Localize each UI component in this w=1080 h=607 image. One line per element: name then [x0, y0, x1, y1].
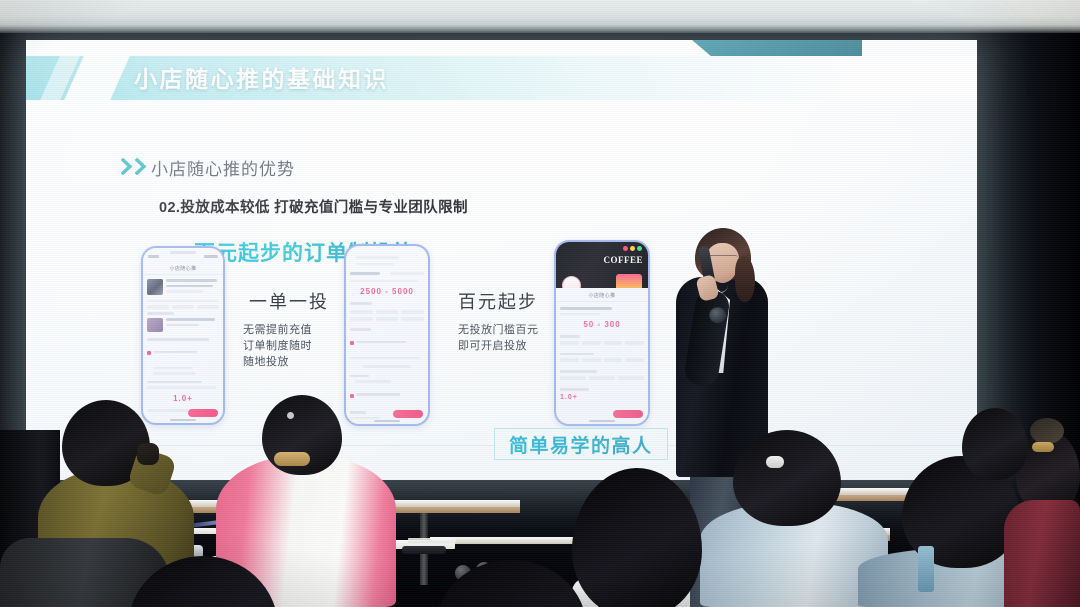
phone-home-bar [374, 420, 400, 422]
phone-nav-title: 小店随心推 [588, 292, 615, 299]
phone-screen-body: 50 - 300 1.0+ [556, 303, 648, 424]
attendee-head [733, 430, 841, 526]
phone-amount: 50 - 300 [560, 320, 644, 329]
thumbnail [147, 318, 163, 332]
phone-home-bar [170, 419, 196, 421]
attendee-hand [137, 443, 159, 465]
notebook-paper [408, 538, 456, 543]
video-badge-left [562, 276, 581, 288]
phone-mockup-3: COFFEE 小店随心推 50 - 300 [554, 240, 650, 426]
video-label: COFFEE [603, 255, 643, 265]
phone-screen-body: 1.0+ [143, 275, 223, 423]
callout-body-1: 无需提前充值 订单制度随时 随地投放 [243, 323, 312, 371]
phone-mockup-2: 2500 - 5000 [344, 244, 430, 426]
slide-bottom-banner: 简单易学的高人 [494, 428, 668, 460]
ceiling-lip [0, 26, 1080, 33]
attendee-necklace [274, 452, 310, 466]
phone-cta-button[interactable] [393, 410, 423, 418]
phone-notch [170, 251, 196, 254]
phone-screen-body: 2500 - 5000 [346, 252, 428, 424]
phone-cta-button[interactable] [613, 410, 643, 418]
slide-point: 02.投放成本较低 打破充值门槛与专业团队限制 [159, 196, 468, 217]
callout-heading-1: 一单一投 [249, 288, 329, 314]
phone-amount: 1.0+ [147, 394, 219, 403]
slide-title: 小店随心推的基础知识 [134, 62, 389, 96]
phone-nav-bar: 小店随心推 [143, 262, 223, 275]
attendee-torso [1004, 500, 1080, 607]
chevron-double-right-icon [121, 158, 148, 175]
callout-body-2: 无投放门槛百元 即可开启投放 [458, 323, 539, 355]
phone-nav-title: 小店随心推 [169, 265, 196, 272]
mobile-phone-on-desk [402, 546, 446, 554]
attendee-hairclip [287, 412, 294, 419]
phone-video-preview: COFFEE [556, 242, 648, 288]
attendee-hair-bun [1030, 418, 1064, 444]
video-badge-right [616, 274, 642, 288]
phone-mockup-1: 小店随心推 [141, 246, 225, 425]
slide-bottom-banner-label: 简单易学的高人 [509, 431, 653, 458]
slide-surface: 小店随心推的基础知识 小店随心推的优势 02.投放成本较低 打破充值门槛与专业团… [26, 40, 977, 480]
phone-cta-button[interactable] [188, 409, 218, 417]
callout-heading-2: 百元起步 [458, 288, 538, 314]
phone-nav-bar: 小店随心推 [556, 289, 648, 302]
thumbnail [147, 279, 163, 295]
projection-screen: 小店随心推的基础知识 小店随心推的优势 02.投放成本较低 打破充值门槛与专业团… [26, 40, 977, 480]
phone-amount: 2500 - 5000 [350, 287, 424, 296]
attendee-hairtie [1032, 442, 1054, 452]
presenter-hair-side [735, 256, 755, 302]
slide-subhead: 小店随心推的优势 [151, 155, 295, 180]
screenshot-root: 小店随心推的基础知识 小店随心推的优势 02.投放成本较低 打破充值门槛与专业团… [0, 0, 1080, 607]
attendee-back-right [962, 408, 1028, 480]
attendee-hairtie [766, 456, 784, 468]
phone-footer-amount: 1.0+ [560, 394, 644, 401]
phone-feed-card [147, 318, 219, 332]
attendee-lanyard [918, 546, 934, 592]
phone-home-bar [589, 420, 615, 422]
video-dots-icon [623, 246, 642, 251]
phone-feed-card [147, 279, 219, 296]
presenter-watch [709, 307, 726, 323]
phone-status-bar [148, 253, 218, 260]
